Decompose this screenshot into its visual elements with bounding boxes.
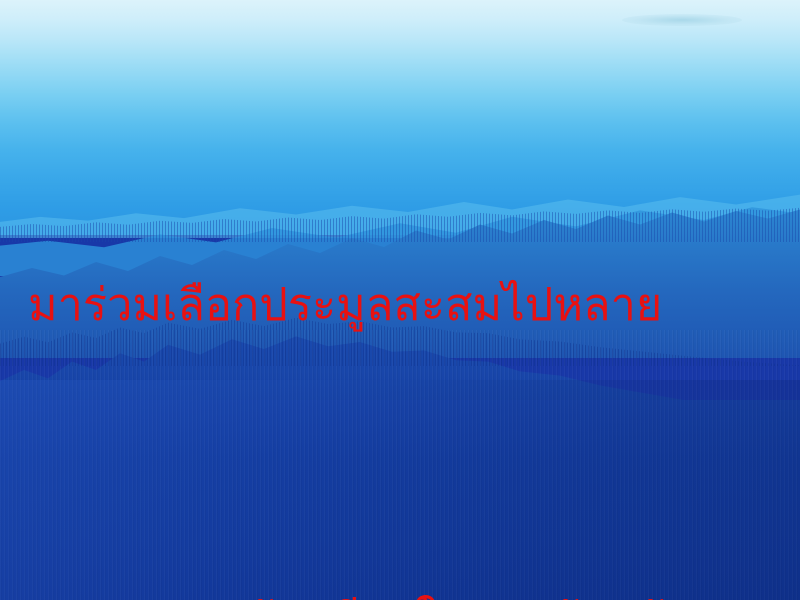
- image-canvas: มาร่วมเลือกประมูลสะสมไปหลาย ๆ รายการครับ…: [0, 0, 800, 600]
- caption-line-1: มาร่วมเลือกประมูลสะสมไปหลาย: [28, 252, 800, 357]
- caption-overlay: มาร่วมเลือกประมูลสะสมไปหลาย ๆ รายการครับ…: [0, 0, 800, 600]
- caption-line-2: ๆ รายการครับ มีมาใหม่ทุกวันครับ: [28, 567, 800, 600]
